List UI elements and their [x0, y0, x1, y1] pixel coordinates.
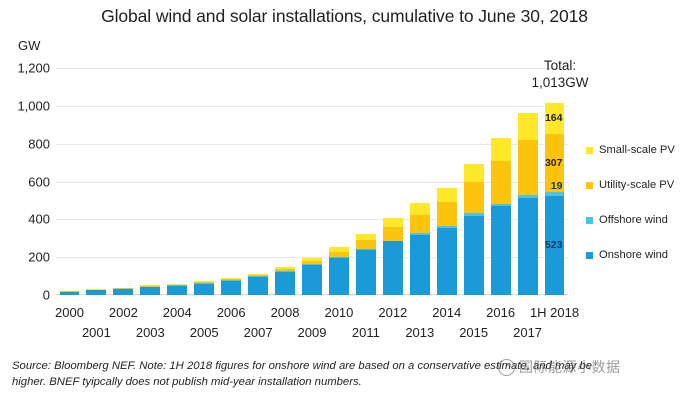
- legend-label: Offshore wind: [599, 215, 668, 226]
- bar-group[interactable]: [221, 278, 241, 295]
- bar-group[interactable]: [437, 188, 457, 295]
- chart-legend: Small-scale PVUtility-scale PVOffshore w…: [586, 133, 689, 273]
- bar-segment[interactable]: [329, 258, 349, 295]
- bar-segment[interactable]: [410, 203, 430, 215]
- y-axis-unit-label: GW: [18, 38, 40, 53]
- bar-group[interactable]: [329, 247, 349, 295]
- bar-group[interactable]: [275, 267, 295, 295]
- legend-label: Utility-scale PV: [599, 180, 674, 191]
- bar-segment[interactable]: [275, 272, 295, 295]
- bar-segment[interactable]: [383, 227, 403, 241]
- legend-item[interactable]: Onshore wind: [586, 238, 689, 273]
- bar-segment[interactable]: [60, 292, 80, 295]
- chart-container: Global wind and solar installations, cum…: [0, 0, 689, 400]
- bar-segment[interactable]: [248, 277, 268, 295]
- bar-group[interactable]: [410, 203, 430, 295]
- bar-segment[interactable]: [194, 284, 214, 295]
- legend-label: Small-scale PV: [599, 145, 675, 156]
- source-note-line-1: Source: Bloomberg NEF. Note: 1H 2018 fig…: [12, 358, 672, 374]
- bar-group[interactable]: [248, 274, 268, 295]
- bar-segment[interactable]: [518, 113, 538, 140]
- bar-segment[interactable]: [383, 241, 403, 295]
- y-axis-tick-label: 1,000: [17, 99, 50, 112]
- bar-group[interactable]: [302, 258, 322, 295]
- legend-item[interactable]: Small-scale PV: [586, 133, 689, 168]
- bar-group[interactable]: [167, 284, 187, 295]
- bar-segment[interactable]: [437, 202, 457, 226]
- bar-segment[interactable]: [491, 138, 511, 161]
- total-annotation: Total: 1,013GW: [505, 58, 615, 92]
- bar-segment[interactable]: [464, 216, 484, 295]
- bar-segment[interactable]: [410, 235, 430, 295]
- bar-group[interactable]: 52319307164: [545, 103, 565, 295]
- bar-segment[interactable]: [356, 240, 376, 249]
- y-axis-tick-label: 800: [28, 137, 50, 150]
- legend-swatch-icon: [586, 182, 593, 189]
- bar-group[interactable]: [194, 281, 214, 295]
- total-annotation-label: Total:: [505, 58, 615, 75]
- y-axis-tick-label: 200: [28, 251, 50, 264]
- bar-segment[interactable]: [518, 140, 538, 194]
- chart-title: Global wind and solar installations, cum…: [0, 6, 689, 27]
- bar-segment[interactable]: [464, 164, 484, 181]
- bar-segment[interactable]: [167, 286, 187, 295]
- bar-group[interactable]: [464, 164, 484, 295]
- bar-segment[interactable]: [86, 290, 106, 295]
- bar-segment[interactable]: [356, 234, 376, 241]
- y-axis-tick-label: 1,200: [17, 62, 50, 75]
- y-axis-tick-label: 600: [28, 175, 50, 188]
- bar-data-label: 523: [545, 240, 563, 251]
- bar-segment[interactable]: [221, 281, 241, 295]
- plot-area: 02004006008001,0001,200 52319307164: [56, 68, 568, 295]
- bar-data-label: 164: [545, 113, 563, 124]
- x-axis-tick-label: 1H 2018: [519, 306, 589, 319]
- bar-group[interactable]: [518, 113, 538, 295]
- x-axis-labels: 2000200120022003200420052006200720082009…: [56, 297, 568, 343]
- y-axis-tick-label: 400: [28, 213, 50, 226]
- bar-segment[interactable]: [356, 250, 376, 295]
- bar-segment[interactable]: [383, 218, 403, 227]
- bar-segment[interactable]: [437, 228, 457, 295]
- bar-data-label: 307: [545, 158, 563, 169]
- bar-segment[interactable]: [491, 161, 511, 204]
- source-note-line-2: higher. BNEF tyipcally does not publish …: [12, 374, 672, 390]
- x-axis-tick-label: 2017: [493, 326, 563, 339]
- y-axis-tick-label: 0: [43, 289, 50, 302]
- bar-segment[interactable]: [113, 289, 133, 295]
- bar-group[interactable]: [356, 234, 376, 295]
- bar-segment[interactable]: [302, 265, 322, 295]
- source-note: Source: Bloomberg NEF. Note: 1H 2018 fig…: [12, 358, 672, 391]
- bar-group[interactable]: [86, 289, 106, 295]
- bar-segment[interactable]: [140, 287, 160, 295]
- legend-label: Onshore wind: [599, 250, 668, 261]
- bar-segment[interactable]: [437, 188, 457, 202]
- bar-group[interactable]: [140, 285, 160, 295]
- bar-group[interactable]: [113, 288, 133, 295]
- bar-segment[interactable]: [518, 198, 538, 295]
- legend-swatch-icon: [586, 252, 593, 259]
- legend-swatch-icon: [586, 217, 593, 224]
- bar-group[interactable]: [491, 138, 511, 295]
- bar-series-layer: 52319307164: [56, 68, 568, 295]
- bar-data-label: 19: [551, 181, 563, 192]
- bar-group[interactable]: [60, 291, 80, 295]
- legend-item[interactable]: Utility-scale PV: [586, 168, 689, 203]
- legend-swatch-icon: [586, 147, 593, 154]
- bar-segment[interactable]: [491, 206, 511, 295]
- bar-group[interactable]: [383, 218, 403, 295]
- legend-item[interactable]: Offshore wind: [586, 203, 689, 238]
- total-annotation-value: 1,013GW: [505, 75, 615, 92]
- bar-segment[interactable]: [410, 215, 430, 234]
- bar-segment[interactable]: [464, 182, 484, 214]
